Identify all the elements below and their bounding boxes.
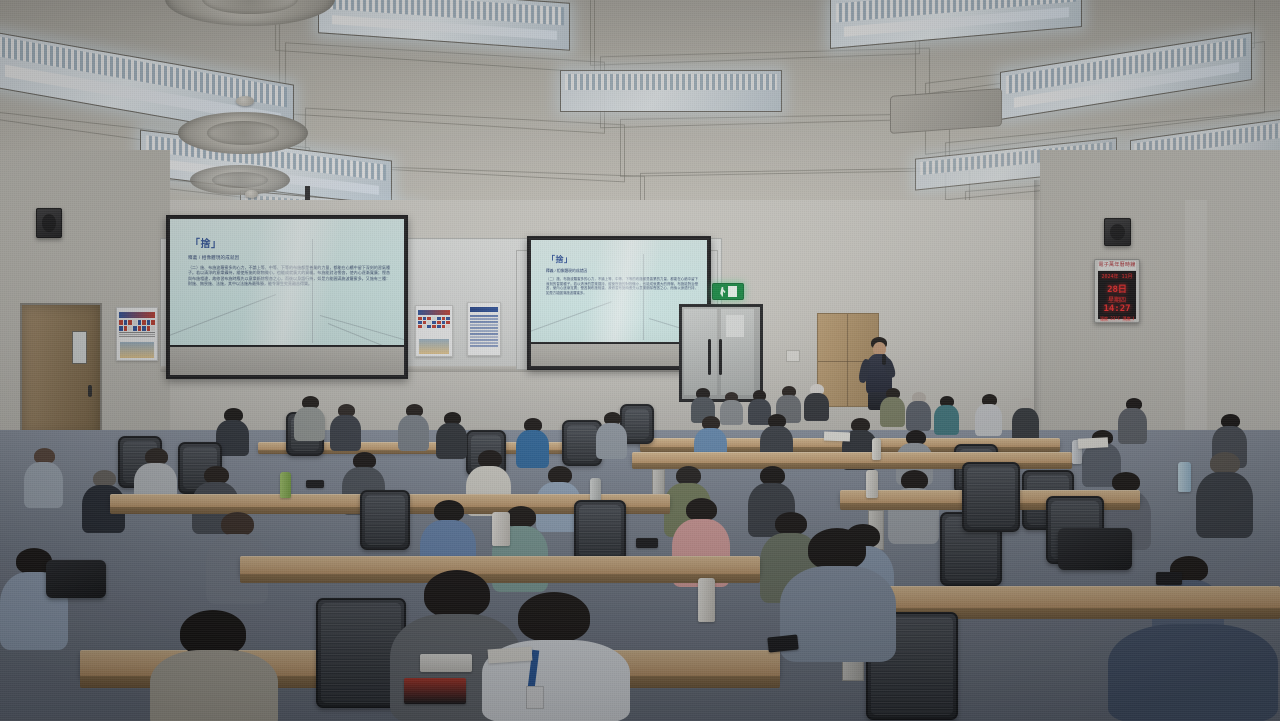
audience-member [1196, 452, 1254, 534]
torso [516, 430, 549, 468]
wall-speaker-right [1104, 218, 1131, 246]
audience-member [24, 448, 64, 504]
torso [150, 650, 278, 721]
audience-member [975, 394, 1003, 434]
door-pull-handle[interactable] [719, 339, 722, 375]
audience-member-foreground [1108, 624, 1280, 721]
torso [804, 393, 829, 421]
running-man-icon [720, 287, 726, 297]
exit-sign [712, 283, 744, 300]
torso [294, 407, 325, 441]
hair [901, 470, 928, 490]
led-row-weekday: 星期四 [1100, 295, 1134, 304]
audience-member [880, 388, 906, 426]
poster-left-wall [116, 307, 158, 361]
hair [518, 592, 590, 642]
torso [596, 423, 627, 459]
smartphone[interactable] [306, 480, 324, 488]
poster-image [419, 339, 449, 354]
poster-text-lines [119, 332, 154, 337]
backpack [46, 560, 106, 598]
audience-member [330, 404, 362, 450]
audience-member [906, 392, 932, 430]
torso [436, 423, 467, 459]
poster-header-band [418, 310, 450, 316]
audience-member-foreground [150, 610, 280, 721]
poster-color-grid [119, 320, 154, 330]
audience-member [294, 396, 326, 440]
audience-member [934, 396, 960, 434]
smoke-detector [236, 96, 254, 106]
torso [906, 401, 931, 431]
left-projection-screen: 「捨」 釋義 / 相像體現的成就因 （二）施、布施波羅蜜多的心力，不論上等、中等… [166, 215, 408, 379]
smartphone[interactable] [1156, 572, 1182, 585]
torso [975, 404, 1002, 436]
door-pull-handle[interactable] [708, 339, 711, 375]
exit-door-icon [728, 286, 737, 297]
poster-color-grid [418, 317, 450, 328]
air-diffuser [178, 112, 308, 154]
poster-text-lines [470, 315, 498, 346]
desk-item-white [420, 654, 472, 672]
torso [934, 405, 959, 435]
microphone [882, 354, 886, 365]
door-left-wood[interactable] [20, 303, 102, 437]
hair [506, 506, 536, 528]
led-information-board: 電子萬年曆時鐘 2024年 11月 28日 星期四 14:27 溫度 23°C … [1094, 259, 1140, 323]
paper-handout [824, 432, 850, 442]
water-bottle [590, 478, 601, 502]
left-screen-surface: 「捨」 釋義 / 相像體現的成就因 （二）施、布施波羅蜜多的心力，不論上等、中等… [170, 219, 404, 345]
hair [686, 498, 717, 521]
chair[interactable] [360, 490, 410, 550]
door-vision-panel [72, 331, 87, 364]
smartphone[interactable] [636, 538, 658, 548]
backpack [1058, 528, 1132, 570]
torso [1118, 408, 1147, 444]
smoke-detector [245, 190, 258, 198]
poster-center-a [415, 305, 453, 357]
chair[interactable] [962, 462, 1020, 532]
poster-header-band [470, 307, 498, 313]
led-row-environment: 溫度 23°C 濕度 62% [1100, 316, 1134, 322]
door-glass-panel [684, 309, 717, 395]
torso [330, 415, 361, 451]
audience-member [1118, 398, 1148, 442]
audience-member [398, 404, 430, 450]
wall-outlet [786, 350, 800, 362]
hair [434, 500, 464, 522]
audience-member [436, 412, 468, 458]
audience-member-foreground [780, 528, 898, 658]
paper-handout [1078, 437, 1108, 449]
audience-member [804, 384, 830, 420]
ceiling-light-fixture [560, 70, 782, 112]
chair[interactable] [574, 500, 626, 562]
hair [221, 512, 254, 536]
lecture-hall-photo: 「捨」 釋義 / 相像體現的成就因 （二）施、布施波羅蜜多的心力，不論上等、中等… [0, 0, 1280, 721]
hair [1210, 452, 1240, 474]
id-badge [526, 686, 544, 709]
air-diffuser [190, 165, 290, 195]
water-bottle [698, 578, 715, 622]
torso [1012, 408, 1039, 442]
left-screen-skirt [170, 347, 404, 375]
screen-glare [170, 219, 404, 345]
poster-header-band [119, 312, 154, 318]
led-board-title: 電子萬年曆時鐘 [1098, 261, 1136, 270]
poster-image [120, 342, 154, 358]
hair [808, 528, 866, 570]
audience-member [1012, 398, 1040, 440]
poster-center-b [467, 302, 501, 356]
smartphone[interactable] [767, 634, 798, 652]
air-diffuser [890, 88, 1002, 134]
torso [24, 462, 63, 508]
water-bottle [280, 472, 291, 498]
torso [398, 415, 429, 451]
door-frosted-panel [726, 315, 744, 337]
led-row-day: 28日 [1100, 282, 1134, 295]
water-bottle [872, 438, 881, 460]
water-bottle [866, 470, 878, 498]
water-bottle [1178, 462, 1191, 492]
cabinet-seam [847, 314, 848, 406]
audience-member [516, 418, 550, 466]
torso [880, 397, 905, 427]
pencil-case [404, 678, 466, 704]
led-row-time: 14:27 [1100, 304, 1134, 314]
water-bottle [492, 512, 510, 546]
hair [1112, 472, 1140, 492]
led-board-screen: 2024年 11月 28日 星期四 14:27 溫度 23°C 濕度 62% [1098, 271, 1136, 319]
led-row-year-month: 2024年 11月 [1100, 273, 1134, 280]
torso [1196, 472, 1253, 538]
audience-member [596, 412, 628, 458]
door-handle[interactable] [88, 385, 92, 397]
torso [1108, 624, 1278, 721]
wall-speaker-left [36, 208, 62, 238]
hair [424, 570, 490, 618]
